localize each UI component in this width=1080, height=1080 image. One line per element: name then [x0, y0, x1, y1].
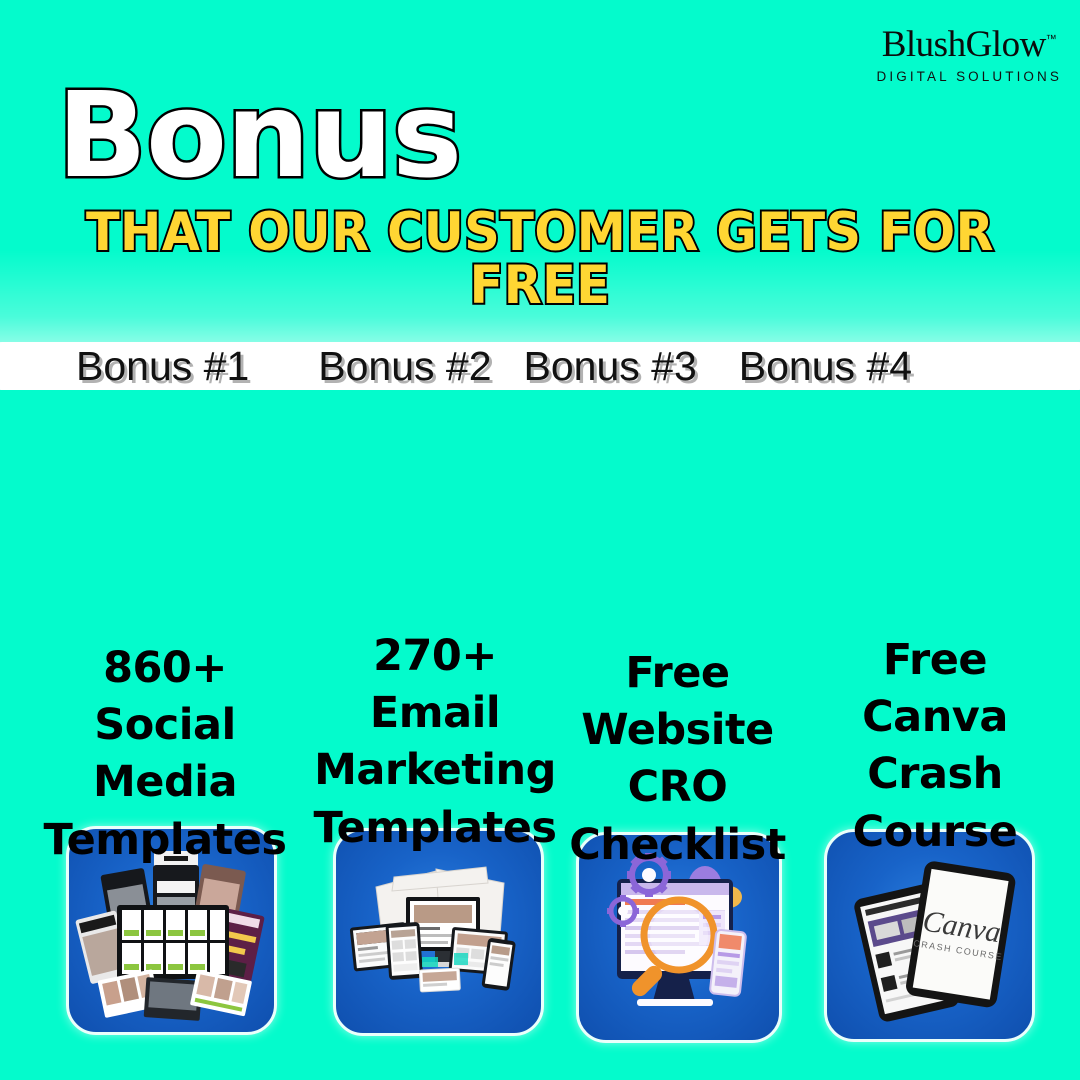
brand-logo: BlushGlow™ DIGITAL SOLUTIONS — [877, 26, 1062, 84]
bonus-label-2: Bonus #2 — [318, 343, 491, 390]
bonus-caption-3: Free Website CRO Checklist — [560, 645, 795, 874]
page-subtitle: THAT OUR CUSTOMER GETS FOR FREE — [38, 206, 1042, 312]
bonus-label-3: Bonus #3 — [524, 343, 697, 390]
brand-tagline: DIGITAL SOLUTIONS — [877, 70, 1062, 84]
bonus-caption-4: Free Canva Crash Course — [820, 632, 1050, 861]
bonus-card-4[interactable]: Canva CRASH COURSE — [824, 829, 1035, 1042]
bonus-caption-1: 860+ Social Media Templates — [10, 640, 320, 869]
bonus-label-4: Bonus #4 — [739, 343, 912, 390]
brand-name-text: BlushGlow — [882, 24, 1046, 65]
canva-crash-course-tablets-icon: Canva CRASH COURSE — [827, 832, 1032, 1039]
bonus-label-row: Bonus #1 Bonus #2 Bonus #3 Bonus #4 — [0, 338, 1080, 394]
trademark-icon: ™ — [1046, 34, 1057, 46]
bonus-caption-2: 270+ Email Marketing Templates — [300, 628, 570, 857]
bonus-card-row: Canva CRASH COURSE — [0, 408, 1080, 648]
page-title: Bonus — [57, 76, 461, 194]
brand-name: BlushGlow™ — [882, 26, 1057, 63]
bonus-label-1: Bonus #1 — [76, 343, 249, 390]
email-marketing-templates-devices-icon — [336, 831, 541, 1033]
promo-graphic: BlushGlow™ DIGITAL SOLUTIONS Bonus THAT … — [0, 0, 1080, 1080]
bonus-card-2[interactable] — [333, 828, 544, 1036]
